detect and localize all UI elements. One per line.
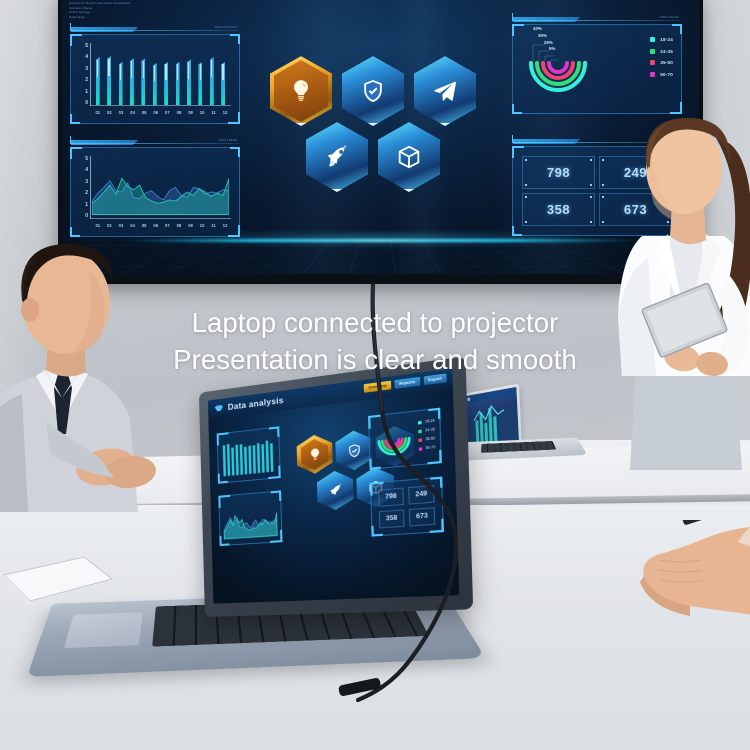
donut-chart-panel: USER GROUP 40% 30% 25% 5% bbox=[512, 24, 682, 114]
laptop-bar-chart bbox=[218, 427, 280, 482]
bar-07 bbox=[164, 62, 168, 105]
laptop-hex-launch[interactable] bbox=[317, 469, 354, 511]
area-chart-panel-label: DATA TREND bbox=[219, 139, 237, 142]
laptop-kpi-value-3: 673 bbox=[416, 513, 428, 520]
laptop-hex-security[interactable] bbox=[335, 429, 373, 472]
shield-check-icon bbox=[360, 78, 386, 104]
rocket-icon bbox=[327, 482, 343, 498]
bar-02 bbox=[107, 56, 111, 105]
laptop-display: Data analysis Overview Reports Export bbox=[208, 368, 459, 604]
lightbulb-icon bbox=[288, 78, 314, 104]
bar-xtick-07: 07 bbox=[165, 110, 170, 115]
laptop-bar-08 bbox=[253, 445, 256, 473]
legend-swatch-2 bbox=[650, 60, 655, 65]
bar-xtick-11: 11 bbox=[211, 110, 215, 115]
bar-chart-series bbox=[92, 45, 229, 105]
donut-chart-panel-tab: USER GROUP bbox=[513, 16, 681, 23]
caption-line-2: Presentation is clear and smooth bbox=[0, 342, 750, 379]
screen-header-line-3: Smart Data bbox=[69, 15, 130, 20]
legend-item-3: 50-70 bbox=[650, 72, 673, 77]
laptop-donut-panel: 18-24 24-35 35-50 50-70 bbox=[368, 408, 442, 470]
bar-04 bbox=[130, 58, 134, 105]
screenshot-stage: DATA Analysis for Reports and Smart Visu… bbox=[0, 0, 750, 750]
kpi-cell-2: 358 bbox=[522, 193, 595, 226]
laptop-legend-0: 18-24 bbox=[425, 418, 435, 423]
laptop-kpi-value-0: 798 bbox=[385, 494, 397, 501]
legend-label-3: 50-70 bbox=[660, 72, 673, 77]
bar-xtick-12: 12 bbox=[223, 110, 228, 115]
paper-plane-icon bbox=[432, 78, 458, 104]
laptop-bar-chart-panel bbox=[217, 426, 281, 483]
laptop-bar-06 bbox=[244, 447, 247, 475]
bar-12 bbox=[221, 62, 225, 105]
laptop-kpi-cell-2: 358 bbox=[379, 509, 405, 528]
bar-01 bbox=[96, 57, 100, 105]
legend-item-0: 18-24 bbox=[650, 37, 673, 42]
bird-logo-icon bbox=[214, 402, 224, 413]
laptop-area-chart bbox=[219, 492, 281, 545]
bar-10 bbox=[198, 62, 202, 105]
bar-09 bbox=[187, 59, 191, 105]
legend-label-0: 18-24 bbox=[660, 37, 673, 42]
screen-header: DATA Analysis for Reports and Smart Visu… bbox=[69, 0, 130, 19]
laptop-bar-12 bbox=[270, 443, 273, 472]
laptop-bar-07 bbox=[248, 446, 251, 474]
laptop-kpi-value-2: 358 bbox=[386, 515, 398, 522]
cube-icon bbox=[396, 144, 422, 170]
bar-xtick-08: 08 bbox=[177, 110, 182, 115]
bar-xtick-10: 10 bbox=[200, 110, 205, 115]
kpi-value-2: 358 bbox=[547, 202, 570, 217]
area-xtick-12: 12 bbox=[223, 223, 228, 228]
laptop-bar-02 bbox=[227, 444, 230, 476]
rocket-icon bbox=[324, 144, 350, 170]
donut-legend: 18-24 24-35 35-50 50-70 bbox=[650, 37, 673, 83]
laptop-kpi-panel: 798 249 358 673 bbox=[370, 476, 444, 536]
caption-line-1: Laptop connected to projector bbox=[0, 305, 750, 342]
legend-swatch-0 bbox=[650, 37, 655, 42]
legend-label-2: 35-50 bbox=[660, 60, 673, 65]
laptop-button-overview[interactable]: Overview bbox=[364, 381, 392, 393]
laptop-legend-1: 24-35 bbox=[425, 427, 435, 432]
laptop-kpi-cell-3: 673 bbox=[409, 507, 436, 526]
laptop-kpi-cell-0: 798 bbox=[378, 487, 404, 506]
laptop-hex-idea[interactable] bbox=[296, 433, 333, 475]
laptop-bar-01 bbox=[223, 445, 226, 476]
bar-xtick-09: 09 bbox=[188, 110, 193, 115]
laptop-button-reports[interactable]: Reports bbox=[394, 377, 419, 389]
area-chart-panel-tab: DATA TREND bbox=[71, 139, 239, 146]
bar-chart-x-axis: 010203040506070809101112 bbox=[92, 107, 231, 117]
laptop-legend-3: 50-70 bbox=[426, 445, 436, 450]
laptop-kpi-value-1: 249 bbox=[415, 491, 427, 499]
standing-woman-white-blazer-with-tablet bbox=[612, 108, 750, 470]
laptop-bar-09 bbox=[257, 443, 260, 473]
bar-05 bbox=[141, 58, 145, 105]
bar-chart-panel-label: DATA ANALYSIS bbox=[215, 26, 237, 29]
legend-label-1: 24-35 bbox=[660, 49, 673, 54]
laptop-bar-04 bbox=[235, 445, 238, 476]
bar-xtick-02: 02 bbox=[107, 110, 112, 115]
second-laptop-display bbox=[463, 387, 519, 448]
laptop-bar-05 bbox=[240, 444, 243, 475]
legend-swatch-3 bbox=[650, 72, 655, 77]
kpi-cell-0: 798 bbox=[522, 156, 595, 189]
laptop-app-title: Data analysis bbox=[228, 396, 284, 412]
legend-item-2: 35-50 bbox=[650, 60, 673, 65]
legend-item-1: 24-35 bbox=[650, 49, 673, 54]
hand-holding-pen bbox=[630, 520, 750, 640]
laptop-lid: Data analysis Overview Reports Export bbox=[199, 356, 473, 617]
bar-xtick-03: 03 bbox=[119, 110, 124, 115]
shield-check-icon bbox=[346, 442, 362, 459]
bar-xtick-04: 04 bbox=[130, 110, 135, 115]
laptop-area-series-1 bbox=[224, 513, 278, 539]
second-laptop-base bbox=[452, 438, 587, 462]
area-series-1 bbox=[92, 178, 229, 214]
laptop-bar-03 bbox=[231, 447, 234, 475]
laptop-legend-2: 35-50 bbox=[425, 436, 435, 441]
donut-chart-panel-label: USER GROUP bbox=[660, 16, 679, 19]
donut-arcs bbox=[523, 31, 585, 89]
caption-overlay: Laptop connected to projector Presentati… bbox=[0, 305, 750, 378]
laptop-trackpad[interactable] bbox=[63, 612, 143, 648]
lightbulb-icon bbox=[307, 446, 322, 462]
laptop-bar-11 bbox=[266, 441, 269, 473]
laptop-kpi-cell-1: 249 bbox=[408, 485, 435, 505]
laptop-area-chart-panel bbox=[218, 490, 282, 546]
bar-chart-panel-tab: DATA ANALYSIS bbox=[71, 26, 239, 33]
bar-xtick-06: 06 bbox=[153, 110, 158, 115]
area-chart-series bbox=[92, 158, 229, 215]
bar-08 bbox=[176, 62, 180, 105]
bar-11 bbox=[210, 57, 214, 105]
laptop-donut-chart bbox=[374, 421, 414, 462]
bar-chart-panel: DATA ANALYSIS 5 4 3 2 1 0 01020304050607… bbox=[70, 34, 240, 124]
second-laptop-keyboard[interactable] bbox=[481, 441, 556, 453]
kpi-value-0: 798 bbox=[547, 165, 570, 180]
bar-06 bbox=[153, 63, 157, 105]
main-laptop: Data analysis Overview Reports Export bbox=[55, 392, 455, 722]
bar-xtick-05: 05 bbox=[142, 110, 147, 115]
bar-03 bbox=[119, 62, 123, 105]
area-chart-y-axis: 5 4 3 2 1 0 bbox=[79, 156, 88, 219]
legend-swatch-1 bbox=[650, 49, 655, 54]
laptop-bar-10 bbox=[261, 444, 264, 473]
area-xtick-11: 11 bbox=[211, 223, 215, 228]
bar-chart-y-axis: 5 4 3 2 1 0 bbox=[79, 43, 88, 106]
bar-xtick-01: 01 bbox=[95, 110, 100, 115]
